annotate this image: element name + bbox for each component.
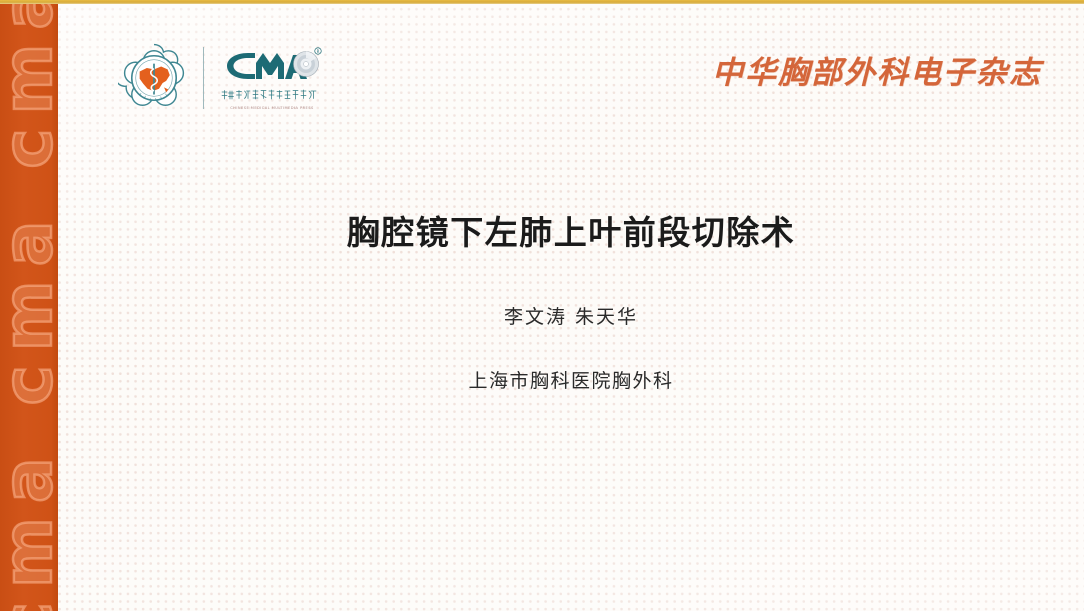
publisher-chinese-name-icon <box>220 89 324 101</box>
cma-wordmark-icon: R <box>220 46 324 86</box>
publisher-logo: R <box>217 46 324 111</box>
cma-watermark-text: cma cma cma <box>0 0 58 611</box>
presentation-slide: cma cma cma <box>0 0 1084 611</box>
title-block: 胸腔镜下左肺上叶前段切除术 李文涛 朱天华 上海市胸科医院胸外科 <box>58 212 1084 393</box>
cma-association-emblem-icon <box>118 40 190 116</box>
publisher-english-name-icon: CHINESE MEDICAL MULTIMEDIA PRESS <box>220 104 324 111</box>
svg-text:CHINESE MEDICAL MULTIMEDIA PRE: CHINESE MEDICAL MULTIMEDIA PRESS <box>230 106 314 110</box>
affiliation-line: 上海市胸科医院胸外科 <box>58 366 1084 393</box>
svg-text:R: R <box>317 48 320 53</box>
logo-divider <box>203 47 204 109</box>
top-gold-rule <box>0 0 1084 4</box>
presentation-title: 胸腔镜下左肺上叶前段切除术 <box>58 212 1084 253</box>
authors-line: 李文涛 朱天华 <box>58 302 1084 329</box>
left-orange-band: cma cma cma <box>0 0 58 611</box>
journal-name-title: 中华胸部外科电子杂志 <box>712 47 1042 92</box>
logo-group: R <box>118 40 324 116</box>
slide-header: R <box>58 0 1084 140</box>
